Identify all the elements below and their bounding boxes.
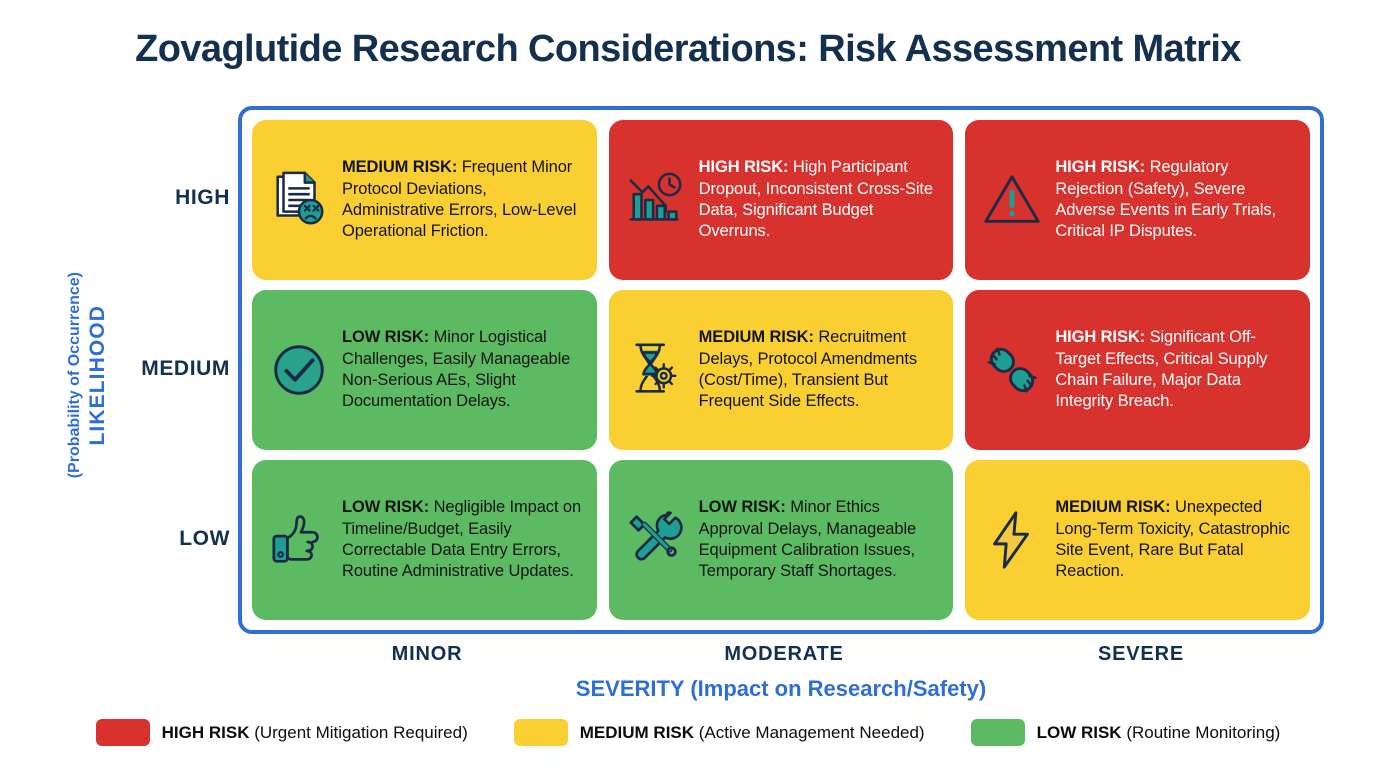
- matrix-cell-text: HIGH RISK: Regulatory Rejection (Safety)…: [1055, 157, 1296, 243]
- legend-risk-note: (Active Management Needed): [694, 723, 925, 742]
- matrix-cell-text: HIGH RISK: High Participant Dropout, Inc…: [699, 157, 940, 243]
- row-label-low: LOW: [120, 527, 230, 551]
- matrix-cell-risk-label: HIGH RISK:: [699, 158, 789, 176]
- lightning-bolt-icon: [975, 503, 1049, 577]
- matrix-cell-risk-label: MEDIUM RISK:: [1055, 498, 1170, 516]
- matrix-cell-risk-label: HIGH RISK:: [1055, 158, 1145, 176]
- likelihood-axis-title: LIKELIHOOD (Probability of Occurrence): [60, 115, 116, 635]
- matrix-cell-medium-moderate: MEDIUM RISK: Recruitment Delays, Protoco…: [609, 290, 954, 450]
- matrix-cell-high-severe: HIGH RISK: Regulatory Rejection (Safety)…: [965, 120, 1310, 280]
- matrix-cell-risk-label: LOW RISK:: [342, 328, 429, 346]
- matrix-cell-risk-label: MEDIUM RISK:: [342, 158, 457, 176]
- thumbs-up-icon: [262, 503, 336, 577]
- legend-risk-note: (Urgent Mitigation Required): [249, 723, 467, 742]
- warning-triangle-icon: [975, 163, 1049, 237]
- declining-bar-chart-clock-icon: [619, 163, 693, 237]
- matrix-cell-high-moderate: HIGH RISK: High Participant Dropout, Inc…: [609, 120, 954, 280]
- legend-label: HIGH RISK (Urgent Mitigation Required): [162, 723, 468, 743]
- legend-swatch-medium: [514, 719, 568, 746]
- check-circle-icon: [262, 333, 336, 407]
- wrench-screwdriver-icon: [619, 503, 693, 577]
- matrix-cell-risk-label: HIGH RISK:: [1055, 328, 1145, 346]
- document-error-icon: [262, 163, 336, 237]
- matrix-cell-low-severe: MEDIUM RISK: Unexpected Long-Term Toxici…: [965, 460, 1310, 620]
- legend-label: LOW RISK (Routine Monitoring): [1037, 723, 1281, 743]
- legend-risk-name: LOW RISK: [1037, 723, 1122, 742]
- matrix-cell-risk-label: MEDIUM RISK:: [699, 328, 814, 346]
- legend-swatch-low: [971, 719, 1025, 746]
- risk-legend: HIGH RISK (Urgent Mitigation Required)ME…: [0, 719, 1376, 746]
- risk-matrix-grid: MEDIUM RISK: Frequent Minor Protocol Dev…: [252, 120, 1310, 620]
- matrix-frame: MEDIUM RISK: Frequent Minor Protocol Dev…: [238, 106, 1324, 634]
- page-title: Zovaglutide Research Considerations: Ris…: [0, 28, 1376, 71]
- likelihood-axis-sub-label: (Probability of Occurrence): [66, 272, 84, 478]
- legend-risk-note: (Routine Monitoring): [1122, 723, 1281, 742]
- matrix-cell-medium-severe: HIGH RISK: Significant Off-Target Effect…: [965, 290, 1310, 450]
- matrix-cell-risk-label: LOW RISK:: [699, 498, 786, 516]
- severity-axis-title: SEVERITY (Impact on Research/Safety): [238, 676, 1324, 702]
- legend-item-low: LOW RISK (Routine Monitoring): [971, 719, 1281, 746]
- row-label-high: HIGH: [120, 186, 230, 210]
- matrix-cell-text: LOW RISK: Minor Ethics Approval Delays, …: [699, 497, 940, 583]
- legend-swatch-high: [96, 719, 150, 746]
- legend-risk-name: HIGH RISK: [162, 723, 250, 742]
- column-label-minor: MINOR: [257, 643, 597, 666]
- matrix-cell-low-minor: LOW RISK: Negligible Impact on Timeline/…: [252, 460, 597, 620]
- matrix-cell-medium-minor: LOW RISK: Minor Logistical Challenges, E…: [252, 290, 597, 450]
- matrix-cell-text: MEDIUM RISK: Unexpected Long-Term Toxici…: [1055, 497, 1296, 583]
- hourglass-gear-icon: [619, 333, 693, 407]
- matrix-cell-text: MEDIUM RISK: Frequent Minor Protocol Dev…: [342, 157, 583, 243]
- matrix-cell-risk-label: LOW RISK:: [342, 498, 429, 516]
- broken-chain-link-icon: [975, 333, 1049, 407]
- legend-item-high: HIGH RISK (Urgent Mitigation Required): [96, 719, 468, 746]
- legend-label: MEDIUM RISK (Active Management Needed): [580, 723, 925, 743]
- column-label-severe: SEVERE: [971, 643, 1311, 666]
- matrix-cell-high-minor: MEDIUM RISK: Frequent Minor Protocol Dev…: [252, 120, 597, 280]
- risk-matrix-page: Zovaglutide Research Considerations: Ris…: [0, 0, 1376, 768]
- matrix-cell-text: MEDIUM RISK: Recruitment Delays, Protoco…: [699, 327, 940, 413]
- likelihood-axis-main-label: LIKELIHOOD: [86, 305, 110, 446]
- matrix-cell-text: LOW RISK: Minor Logistical Challenges, E…: [342, 327, 583, 413]
- matrix-cell-text: LOW RISK: Negligible Impact on Timeline/…: [342, 497, 583, 583]
- matrix-cell-low-moderate: LOW RISK: Minor Ethics Approval Delays, …: [609, 460, 954, 620]
- matrix-cell-text: HIGH RISK: Significant Off-Target Effect…: [1055, 327, 1296, 413]
- legend-item-medium: MEDIUM RISK (Active Management Needed): [514, 719, 925, 746]
- column-label-moderate: MODERATE: [614, 643, 954, 666]
- legend-risk-name: MEDIUM RISK: [580, 723, 694, 742]
- row-label-medium: MEDIUM: [120, 357, 230, 381]
